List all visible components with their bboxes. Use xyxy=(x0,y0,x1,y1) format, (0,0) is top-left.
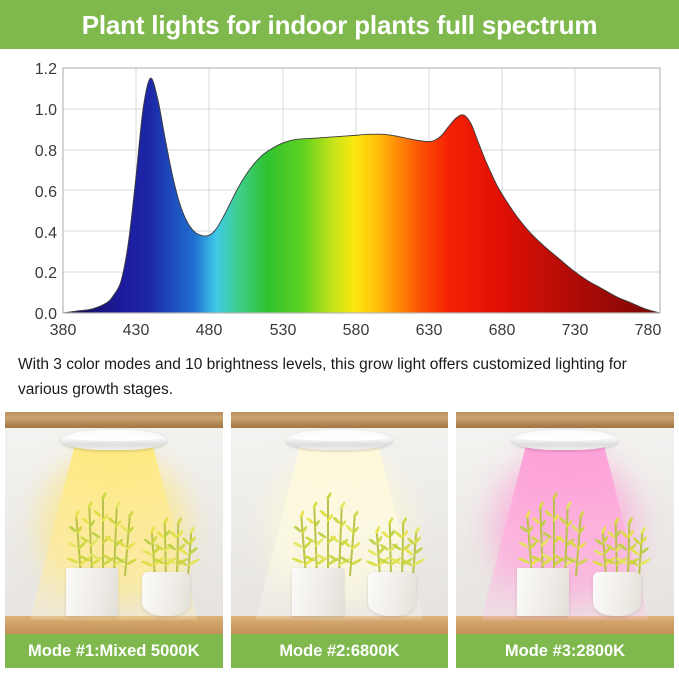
plant-leaf xyxy=(578,510,586,518)
x-tick-label: 480 xyxy=(196,322,223,339)
plant-leaf xyxy=(613,516,620,524)
plant-stem xyxy=(187,532,192,577)
plant-leaf xyxy=(168,529,176,538)
plant-leaf xyxy=(414,526,422,534)
mode-panel[interactable]: Mode #2:6800K xyxy=(231,412,449,668)
mode-label: Mode #3:2800K xyxy=(456,634,674,668)
plant-stem xyxy=(88,507,93,576)
plant-leaf xyxy=(162,516,169,524)
plant-leaf xyxy=(551,492,558,500)
plant-leaf xyxy=(292,556,304,565)
plant-leaf xyxy=(314,537,325,547)
y-tick-label: 0.0 xyxy=(35,306,57,323)
plant-leaf xyxy=(93,509,101,518)
mode-photo xyxy=(231,412,449,634)
plant-leaf xyxy=(66,556,78,565)
mode-photo xyxy=(5,412,223,634)
x-tick-label: 530 xyxy=(270,322,297,339)
square-pot xyxy=(517,568,569,616)
plant-leaf xyxy=(517,556,529,565)
plant-stem xyxy=(163,522,166,576)
y-tick-label: 0.2 xyxy=(35,265,57,282)
plant-leaf xyxy=(576,541,587,550)
x-tick-label: 780 xyxy=(635,322,662,339)
plant-stem xyxy=(150,532,155,577)
plant-leaf xyxy=(575,558,588,566)
plant-leaf xyxy=(540,537,551,547)
plant-leaf xyxy=(86,501,93,509)
plant-leaf xyxy=(593,548,603,557)
plants-group xyxy=(5,491,223,616)
plant-stem xyxy=(602,532,607,577)
plant-leaf xyxy=(350,558,363,566)
grow-light-lamp-icon xyxy=(61,430,167,450)
y-tick-label: 1.0 xyxy=(35,102,57,119)
plant-leaf xyxy=(149,525,156,533)
plant-leaf xyxy=(114,501,121,509)
y-tick-label: 1.2 xyxy=(35,61,57,78)
plant-leaf xyxy=(629,547,639,557)
x-tick-label: 680 xyxy=(489,322,516,339)
plant-leaf xyxy=(368,537,376,545)
plant-leaf xyxy=(339,501,346,509)
plant-leaf xyxy=(374,525,381,533)
plant-leaf xyxy=(352,510,360,518)
plant-leaf xyxy=(367,548,377,557)
plant-leaf xyxy=(600,525,607,533)
plant-stem xyxy=(313,507,318,576)
plant-stem xyxy=(412,532,417,577)
plant-leaf xyxy=(127,510,135,518)
x-tick-label: 580 xyxy=(343,322,370,339)
plant-leaf xyxy=(299,510,306,518)
spectrum-chart-svg: 1.2 1.0 0.8 0.6 0.4 0.2 0.0 380 430 480 … xyxy=(0,49,679,345)
mode-panel[interactable]: Mode #1:Mixed 5000K xyxy=(5,412,223,668)
plant-stem xyxy=(575,516,582,576)
plant-stem xyxy=(553,498,555,576)
plant-leaf xyxy=(80,517,88,525)
plant-leaf xyxy=(187,546,198,555)
header-banner: Plant lights for indoor plants full spec… xyxy=(0,0,679,49)
plant-leaf xyxy=(544,509,552,518)
plant-leaf xyxy=(592,559,604,568)
plant-leaf xyxy=(387,516,394,524)
plant-stem xyxy=(327,498,329,576)
round-pot xyxy=(142,572,190,616)
plant-leaf xyxy=(350,541,361,550)
plant-leaf xyxy=(300,525,309,534)
plant-leaf xyxy=(345,523,353,532)
plant-leaf xyxy=(518,524,526,532)
plant-leaf xyxy=(187,558,200,566)
plant-leaf xyxy=(619,529,627,538)
plant-leaf xyxy=(124,558,137,566)
y-tick-label: 0.8 xyxy=(35,143,57,160)
wood-ceiling-trim xyxy=(5,412,223,429)
plant-leaf xyxy=(366,559,378,568)
plant-leaf xyxy=(100,492,107,500)
x-tick-label: 380 xyxy=(50,322,77,339)
plant-leaf xyxy=(188,526,196,534)
plant-leaf xyxy=(626,516,633,524)
plant-leaf xyxy=(67,524,75,532)
plant-leaf xyxy=(413,546,424,555)
plant-leaf xyxy=(313,519,322,528)
plant-stem xyxy=(376,532,381,577)
plant-stem xyxy=(389,522,392,576)
plant-leaf xyxy=(394,529,402,538)
wood-ceiling-trim xyxy=(231,412,449,429)
y-tick-label: 0.6 xyxy=(35,184,57,201)
plant-leaf xyxy=(140,559,152,568)
page-title: Plant lights for indoor plants full spec… xyxy=(82,12,598,38)
plant-leaf xyxy=(119,523,127,532)
plant-leaf xyxy=(558,516,566,525)
round-pot xyxy=(368,572,416,616)
plant-stem xyxy=(614,522,617,576)
plant-leaf xyxy=(401,516,408,524)
grow-light-lamp-icon xyxy=(286,430,392,450)
square-pot xyxy=(66,568,118,616)
product-description: With 3 color modes and 10 brightness lev… xyxy=(18,352,670,402)
plants-group xyxy=(456,491,674,616)
mode-panel[interactable]: Mode #3:2800K xyxy=(456,412,674,668)
plant-leaf xyxy=(73,510,80,518)
x-tick-label: 730 xyxy=(562,322,589,339)
mode-photo xyxy=(456,412,674,634)
y-tick-label: 0.4 xyxy=(35,225,57,242)
plant-leaf xyxy=(293,524,301,532)
plant-leaf xyxy=(565,501,572,509)
plant-leaf xyxy=(292,540,302,549)
plant-leaf xyxy=(518,540,528,549)
plant-leaf xyxy=(141,548,151,557)
round-pot xyxy=(593,572,641,616)
x-axis-tick-labels: 380 430 480 530 580 630 680 730 780 xyxy=(50,322,662,339)
spectrum-chart: 1.2 1.0 0.8 0.6 0.4 0.2 0.0 380 430 480 … xyxy=(0,49,679,345)
plant-leaf xyxy=(67,540,77,549)
plant-leaf xyxy=(594,537,602,545)
plant-leaf xyxy=(538,519,547,528)
plant-leaf xyxy=(537,501,544,509)
plant-leaf xyxy=(88,537,99,547)
plant-leaf xyxy=(305,517,313,525)
plant-leaf xyxy=(125,541,136,550)
wood-ceiling-trim xyxy=(456,412,674,429)
mode-label: Mode #2:6800K xyxy=(231,634,449,668)
plant-leaf xyxy=(412,558,425,566)
mode-panels: Mode #1:Mixed 5000K Mode #2:6800K xyxy=(5,412,674,668)
mode-label: Mode #1:Mixed 5000K xyxy=(5,634,223,668)
plant-leaf xyxy=(531,517,539,525)
plant-stem xyxy=(349,516,356,576)
plant-leaf xyxy=(404,547,414,557)
plant-leaf xyxy=(142,537,150,545)
plant-leaf xyxy=(524,510,531,518)
plant-stem xyxy=(539,507,544,576)
plant-leaf xyxy=(639,526,647,534)
plant-stem xyxy=(102,498,104,576)
x-tick-label: 630 xyxy=(416,322,443,339)
plant-leaf xyxy=(106,516,114,525)
plant-leaf xyxy=(87,519,96,528)
x-tick-label: 430 xyxy=(123,322,150,339)
plant-stem xyxy=(638,532,643,577)
plant-leaf xyxy=(570,523,578,532)
plant-leaf xyxy=(175,516,182,524)
grow-light-lamp-icon xyxy=(512,430,618,450)
plant-stem xyxy=(124,516,131,576)
y-axis-tick-labels: 1.2 1.0 0.8 0.6 0.4 0.2 0.0 xyxy=(35,61,57,323)
plants-group xyxy=(231,491,449,616)
plant-leaf xyxy=(312,501,319,509)
plant-leaf xyxy=(638,558,651,566)
square-pot xyxy=(292,568,344,616)
plant-leaf xyxy=(332,516,340,525)
plant-leaf xyxy=(325,492,332,500)
plant-leaf xyxy=(638,546,649,555)
plant-leaf xyxy=(319,509,327,518)
